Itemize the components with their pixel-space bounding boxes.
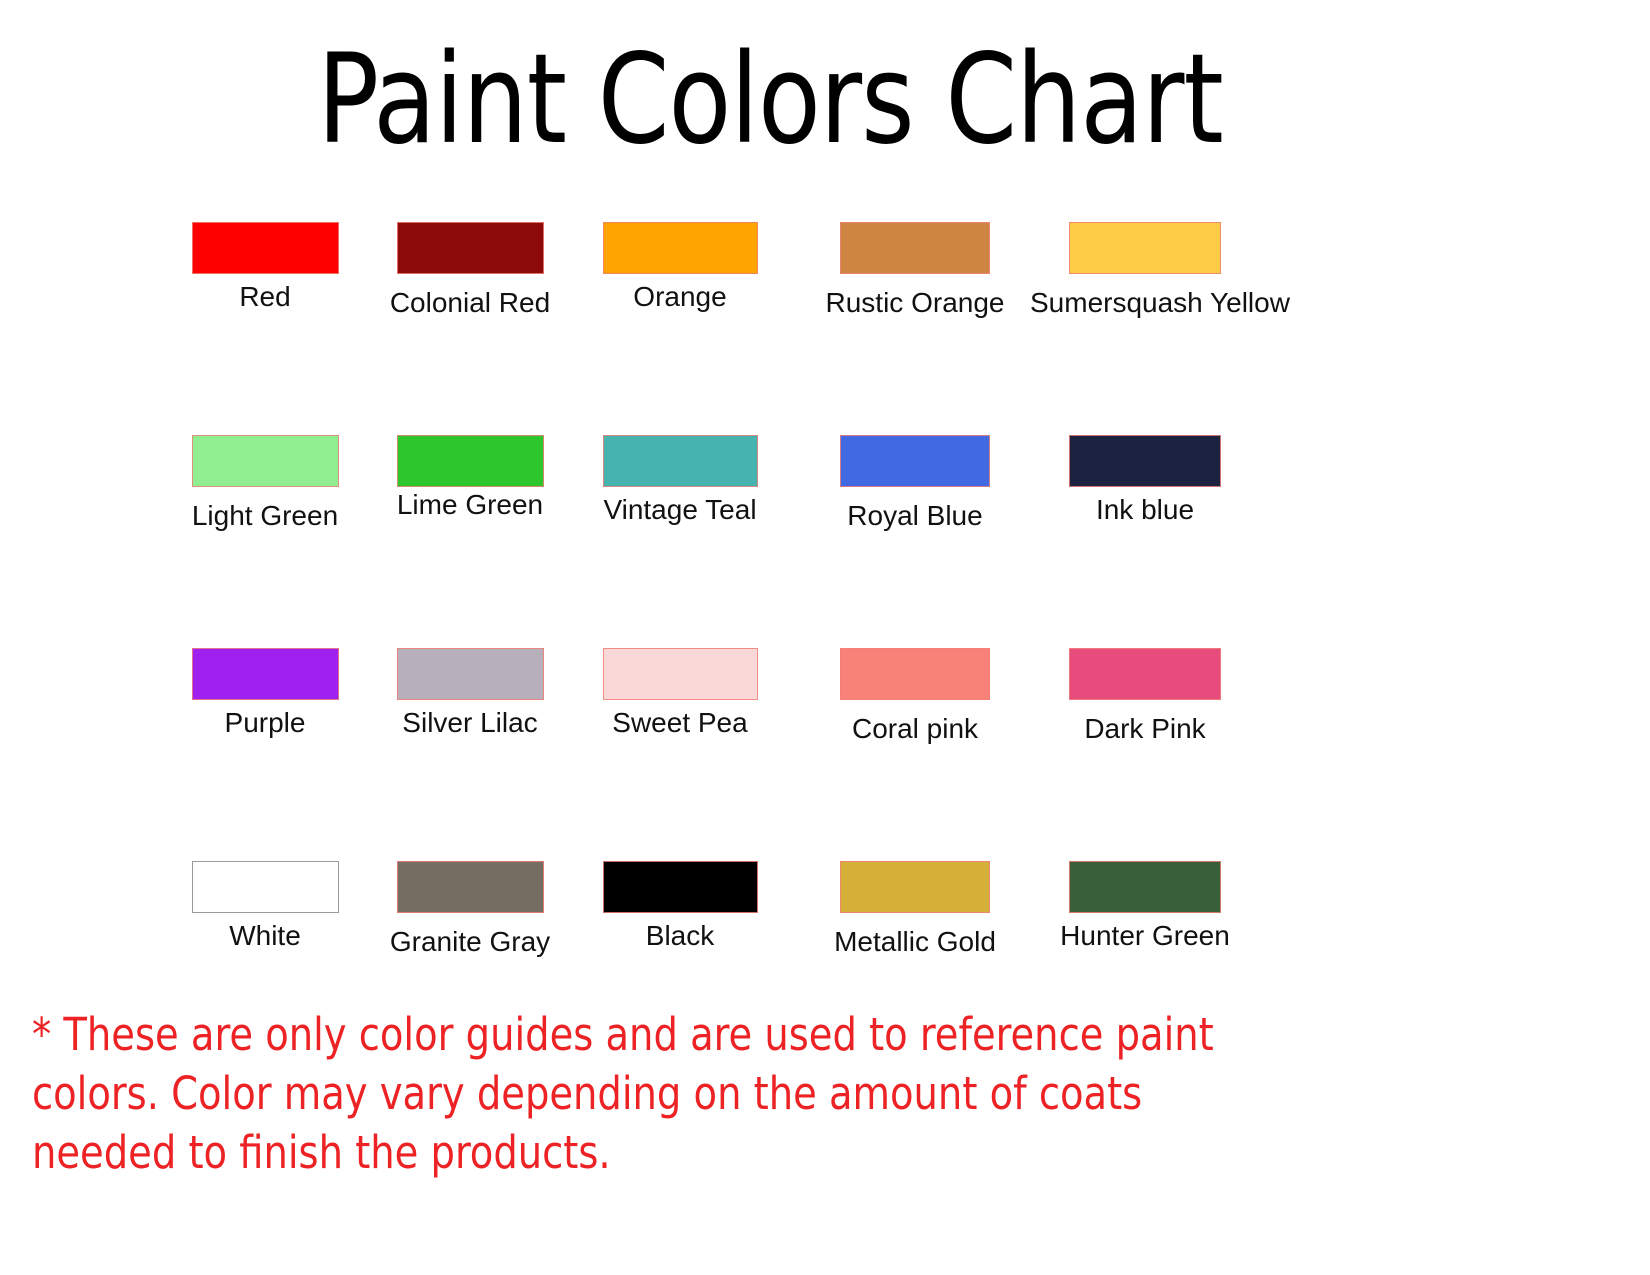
disclaimer-line-2: colors. Color may vary depending on the …	[32, 1064, 1267, 1123]
color-swatch[interactable]	[1069, 861, 1221, 913]
color-swatch[interactable]	[1069, 222, 1221, 274]
swatch-cell[interactable]: Purple	[150, 648, 380, 740]
color-swatch-label: Sumersquash Yellow	[1030, 286, 1260, 320]
color-swatch-label: Sweet Pea	[565, 706, 795, 740]
color-swatch[interactable]	[840, 222, 990, 274]
swatch-cell[interactable]: Dark Pink	[1030, 648, 1260, 746]
color-swatch[interactable]	[603, 435, 758, 487]
color-swatch-label: Purple	[150, 706, 380, 740]
swatch-cell[interactable]: Ink blue	[1030, 435, 1260, 527]
color-swatch-label: Vintage Teal	[565, 493, 795, 527]
disclaimer-line-1: * These are only color guides and are us…	[32, 1005, 1267, 1064]
color-swatch[interactable]	[192, 435, 339, 487]
color-swatch-label: Black	[565, 919, 795, 953]
swatch-cell[interactable]: Lime Green	[355, 435, 585, 522]
color-swatch[interactable]	[397, 435, 544, 487]
color-swatch-label: Light Green	[150, 499, 380, 533]
swatch-cell[interactable]: Vintage Teal	[565, 435, 795, 527]
swatch-cell[interactable]: Metallic Gold	[800, 861, 1030, 959]
swatch-cell[interactable]: Hunter Green	[1030, 861, 1260, 953]
color-swatch[interactable]	[192, 648, 339, 700]
color-swatch-label: Red	[150, 280, 380, 314]
disclaimer-line-3: needed to finish the products.	[32, 1123, 1267, 1182]
swatch-cell[interactable]: Black	[565, 861, 795, 953]
color-swatch-label: Coral pink	[800, 712, 1030, 746]
color-swatch[interactable]	[840, 861, 990, 913]
color-swatch-label: Ink blue	[1030, 493, 1260, 527]
swatch-cell[interactable]: Granite Gray	[355, 861, 585, 959]
swatch-cell[interactable]: Royal Blue	[800, 435, 1030, 533]
color-swatch[interactable]	[192, 861, 339, 913]
color-swatch[interactable]	[840, 648, 990, 700]
swatch-row: PurpleSilver LilacSweet PeaCoral pinkDar…	[0, 648, 1540, 861]
color-swatch-label: Granite Gray	[355, 925, 585, 959]
paint-colors-chart-page: Paint Colors Chart RedColonial RedOrange…	[0, 0, 1650, 1275]
swatch-cell[interactable]: White	[150, 861, 380, 953]
color-swatch[interactable]	[397, 648, 544, 700]
color-swatch[interactable]	[603, 861, 758, 913]
swatch-row: Light GreenLime GreenVintage TealRoyal B…	[0, 435, 1540, 648]
color-swatch-label: Lime Green	[355, 488, 585, 522]
color-swatch-label: White	[150, 919, 380, 953]
page-title: Paint Colors Chart	[62, 38, 1479, 162]
color-swatch[interactable]	[840, 435, 990, 487]
swatch-cell[interactable]: Red	[150, 222, 380, 314]
color-swatch-label: Hunter Green	[1030, 919, 1260, 953]
color-swatch[interactable]	[397, 861, 544, 913]
swatch-cell[interactable]: Silver Lilac	[355, 648, 585, 740]
color-swatch-label: Rustic Orange	[800, 286, 1030, 320]
swatch-cell[interactable]: Sweet Pea	[565, 648, 795, 740]
disclaimer-note: * These are only color guides and are us…	[32, 1005, 1267, 1182]
color-swatch-label: Metallic Gold	[800, 925, 1030, 959]
color-swatch[interactable]	[603, 648, 758, 700]
color-swatch[interactable]	[192, 222, 339, 274]
swatch-cell[interactable]: Orange	[565, 222, 795, 314]
color-swatch-label: Orange	[565, 280, 795, 314]
color-swatch[interactable]	[603, 222, 758, 274]
swatch-cell[interactable]: Rustic Orange	[800, 222, 1030, 320]
color-swatch[interactable]	[1069, 648, 1221, 700]
color-swatch-label: Silver Lilac	[355, 706, 585, 740]
color-swatch-label: Colonial Red	[355, 286, 585, 320]
swatch-cell[interactable]: Colonial Red	[355, 222, 585, 320]
swatch-cell[interactable]: Light Green	[150, 435, 380, 533]
swatch-cell[interactable]: Coral pink	[800, 648, 1030, 746]
color-swatch-label: Dark Pink	[1030, 712, 1260, 746]
swatch-grid: RedColonial RedOrangeRustic OrangeSumers…	[0, 222, 1540, 1074]
color-swatch-label: Royal Blue	[800, 499, 1030, 533]
swatch-row: RedColonial RedOrangeRustic OrangeSumers…	[0, 222, 1540, 435]
color-swatch[interactable]	[1069, 435, 1221, 487]
color-swatch[interactable]	[397, 222, 544, 274]
swatch-cell[interactable]: Sumersquash Yellow	[1030, 222, 1260, 320]
